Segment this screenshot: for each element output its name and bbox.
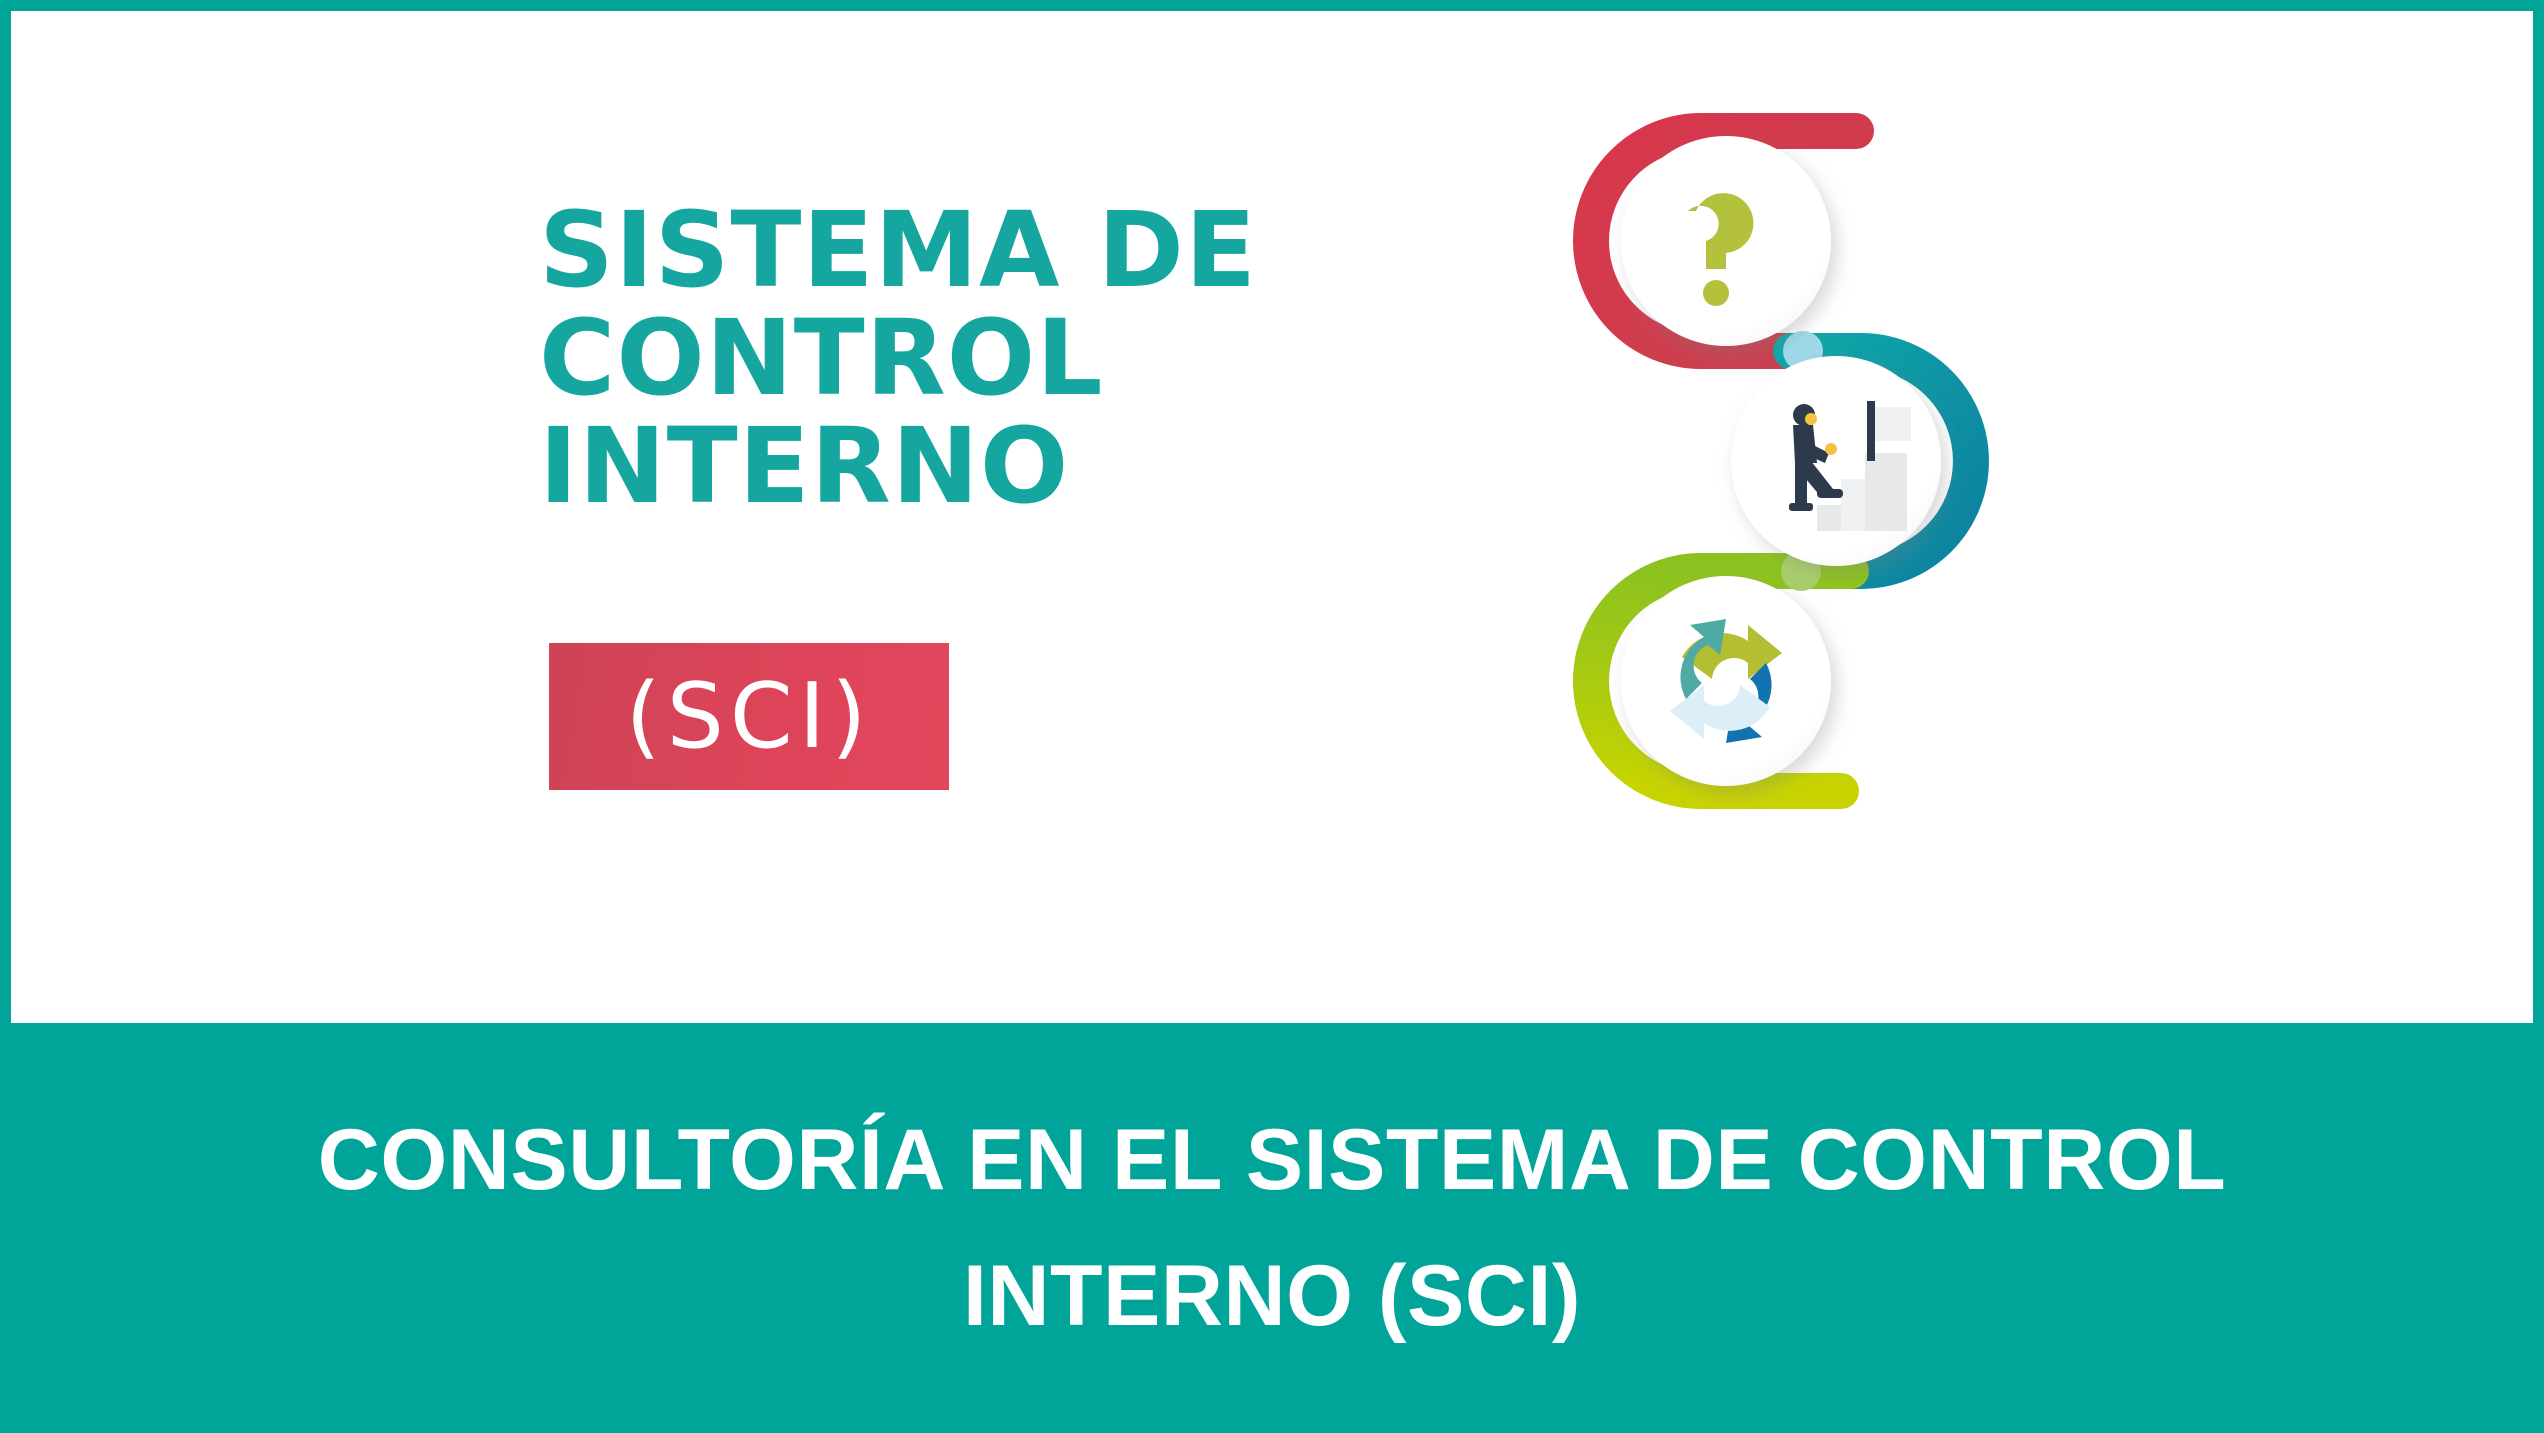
logo-acronym-text: (SCI) bbox=[626, 672, 873, 762]
process-infographic bbox=[1551, 101, 2011, 961]
step-3-badge bbox=[1621, 576, 1831, 786]
sci-logo: SISTEMA DE CONTROL INTERNO (SCI) bbox=[539, 196, 1439, 806]
title-banner: CONSULTORÍA EN EL SISTEMA DE CONTROL INT… bbox=[0, 1023, 2544, 1433]
logo-line-2: CONTROL bbox=[539, 304, 1439, 412]
logo-acronym-box: (SCI) bbox=[549, 643, 949, 790]
step-2-badge bbox=[1731, 356, 1941, 566]
logo-line-3: INTERNO bbox=[539, 412, 1439, 520]
banner-title: CONSULTORÍA EN EL SISTEMA DE CONTROL INT… bbox=[222, 1092, 2322, 1364]
content-panel: SISTEMA DE CONTROL INTERNO (SCI) bbox=[0, 0, 2544, 1023]
slide-root: SISTEMA DE CONTROL INTERNO (SCI) bbox=[0, 0, 2544, 1433]
logo-line-1: SISTEMA DE bbox=[539, 196, 1439, 304]
